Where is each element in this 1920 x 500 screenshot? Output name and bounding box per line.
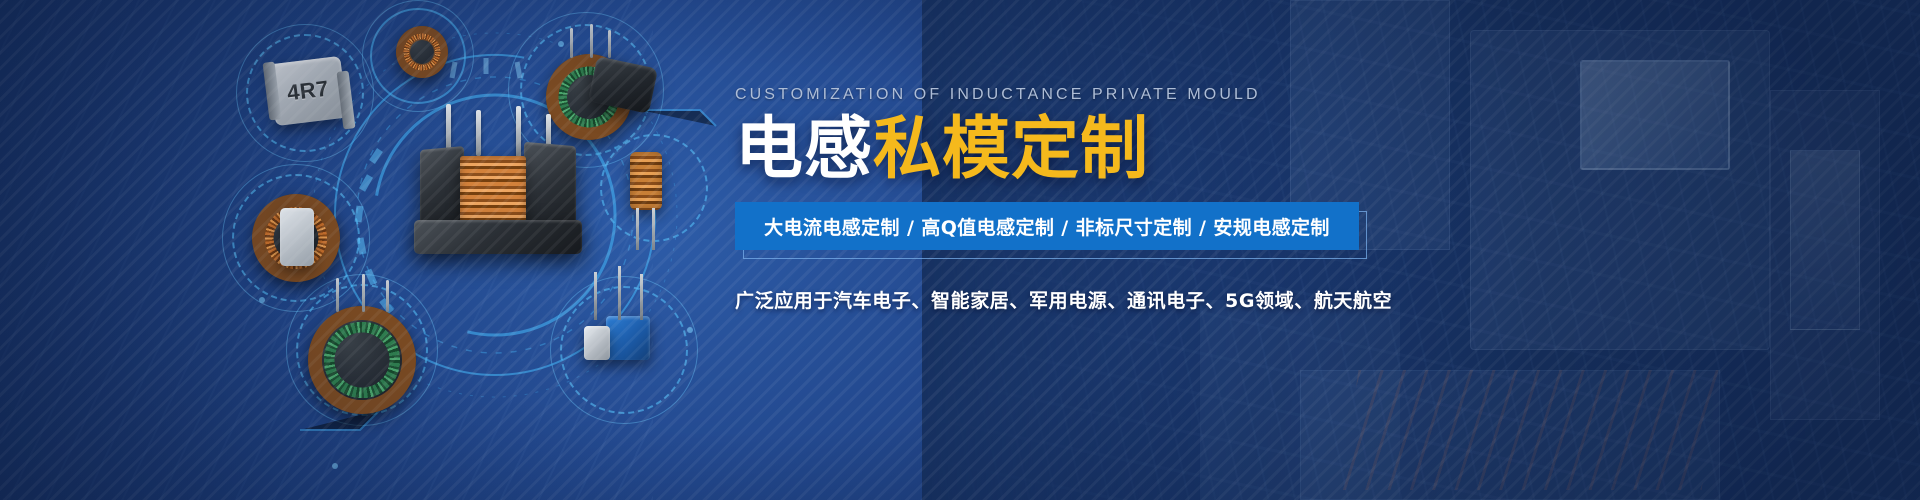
feature-bar-text: 大电流电感定制 / 高Q值电感定制 / 非标尺寸定制 / 安规电感定制 xyxy=(764,213,1330,240)
headline-yellow-part: 私模定制 xyxy=(873,110,1149,189)
application-text: 广泛应用于汽车电子、智能家居、军用电源、通讯电子、5G领域、航天航空 xyxy=(735,286,1575,313)
component-pin xyxy=(476,110,481,156)
component-lead xyxy=(386,280,389,312)
product-green-toroid xyxy=(308,306,416,414)
component-lead xyxy=(652,208,655,250)
product-ee-core-transformer xyxy=(404,104,594,264)
headline: 电感私模定制 xyxy=(735,114,1575,186)
feature-bar-wrapper: 大电流电感定制 / 高Q值电感定制 / 非标尺寸定制 / 安规电感定制 xyxy=(735,202,1359,250)
copper-wire-silhouette xyxy=(1342,370,1719,490)
component-lead xyxy=(362,274,365,312)
smd-chip-code: 4R7 xyxy=(286,76,331,107)
component-lead xyxy=(640,274,643,320)
base-block xyxy=(414,220,582,254)
component-lead xyxy=(570,28,573,58)
component-lead xyxy=(608,30,611,58)
headline-white-part: 电感 xyxy=(735,110,873,189)
banner-text-block: CUSTOMIZATION OF INDUCTANCE PRIVATE MOUL… xyxy=(735,86,1575,313)
machine-panel-silhouette xyxy=(1790,150,1860,330)
component-lead xyxy=(594,272,597,320)
product-rod-inductor xyxy=(630,152,662,210)
machine-display-silhouette xyxy=(1580,60,1730,170)
component-pin xyxy=(516,106,521,158)
component-lead xyxy=(618,266,621,320)
product-mini-toroid xyxy=(396,26,448,78)
english-tagline: CUSTOMIZATION OF INDUCTANCE PRIVATE MOUL… xyxy=(735,86,1575,104)
component-lead xyxy=(636,208,639,250)
feature-bar[interactable]: 大电流电感定制 / 高Q值电感定制 / 非标尺寸定制 / 安规电感定制 xyxy=(735,202,1359,250)
component-lead xyxy=(336,278,339,312)
promo-banner: 4R7 xyxy=(0,0,1920,500)
component-lead xyxy=(590,24,593,58)
